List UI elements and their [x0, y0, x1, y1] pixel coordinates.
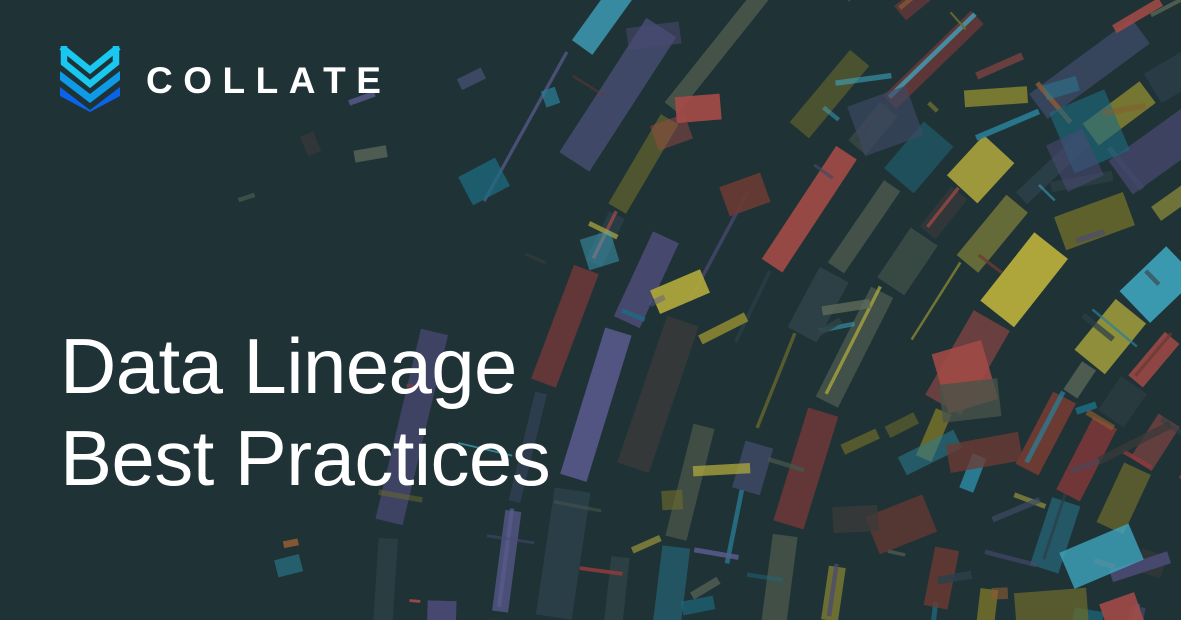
page-title-line-2: Best Practices — [60, 412, 550, 504]
page-title: Data Lineage Best Practices — [60, 320, 550, 504]
banner-content: COLLATE Data Lineage Best Practices — [0, 0, 1181, 620]
brand-wordmark: COLLATE — [146, 60, 391, 99]
banner-canvas: COLLATE Data Lineage Best Practices — [0, 0, 1181, 620]
stacked-layers-chevron-icon — [56, 46, 124, 112]
brand-lockup[interactable]: COLLATE — [56, 46, 391, 112]
page-title-line-1: Data Lineage — [60, 320, 550, 412]
